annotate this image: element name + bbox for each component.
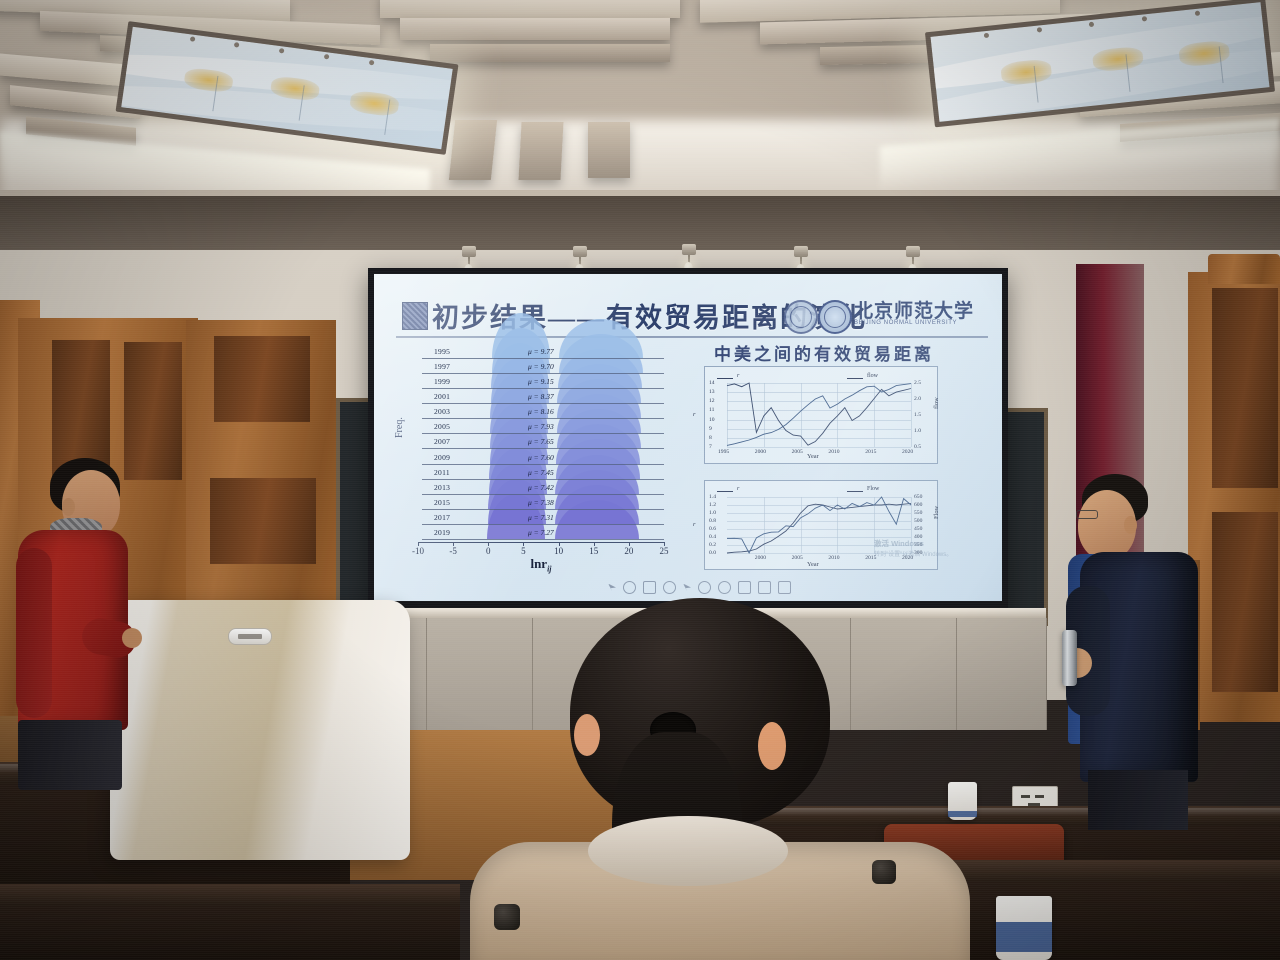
lower-ylabel: r	[693, 521, 696, 528]
ridgeline-xtick-label: -10	[412, 546, 424, 556]
slide-title-bar: 初步结果——有效贸易距离的演化 北京师范大学 BEIJING NORMAL UN…	[374, 292, 1002, 338]
lower-legend-swatch-r	[717, 491, 733, 492]
ridgeline-baseline	[422, 448, 664, 449]
ridgeline-baseline	[422, 418, 664, 419]
ridgeline-xtick-label: 5	[521, 546, 526, 556]
xtick-label: 1995	[718, 449, 729, 455]
ytick-label: 10	[709, 417, 715, 423]
ceiling-beam	[400, 18, 670, 40]
ridgeline-row: 2017μ = 7.31	[418, 512, 664, 525]
coat-button-right	[872, 860, 896, 884]
university-name-en: BEIJING NORMAL UNIVERSITY	[854, 320, 957, 326]
ytick-label: 12	[709, 398, 715, 404]
ridgeline-ylabel: Freq.	[394, 417, 405, 438]
ytick-label: 1.2	[709, 502, 716, 508]
ytick-label: 7	[709, 444, 712, 450]
university-name-cn: 北京师范大学	[854, 296, 974, 323]
pendant-fixture	[462, 246, 476, 257]
ridgeline-plot-area: 1995μ = 9.771997μ = 9.701999μ = 9.152001…	[418, 346, 664, 542]
ridgeline-row: 2011μ = 7.45	[418, 467, 664, 480]
y2tick-label: 600	[914, 502, 922, 508]
upper-legend-swatch-flow	[847, 378, 863, 379]
highlighter-icon[interactable]	[683, 584, 691, 592]
woman-scarf	[588, 816, 788, 886]
ridgeline-baseline	[422, 358, 664, 359]
ridgeline-row: 2019μ = 7.27	[418, 527, 664, 540]
ridgeline-baseline	[422, 479, 664, 480]
ridgeline-mu-annotation: μ = 7.60	[528, 453, 554, 462]
ridgeline-baseline	[422, 373, 664, 374]
ytick-label: 0.2	[709, 542, 716, 548]
upper-xlabel: Year	[807, 453, 819, 460]
y2tick-label: 1.0	[914, 428, 921, 434]
ytick-label: 0.6	[709, 526, 716, 532]
y2tick-label: 2.0	[914, 396, 921, 402]
ridgeline-mu-annotation: μ = 7.65	[528, 437, 554, 446]
lower-legend-label-flow: Flow	[867, 486, 879, 492]
ceiling-beam	[430, 44, 670, 62]
xtick-label: 2005	[792, 449, 803, 455]
projection-screen[interactable]: 初步结果——有效贸易距离的演化 北京师范大学 BEIJING NORMAL UN…	[374, 274, 1002, 601]
ridgeline-row: 2005μ = 7.93	[418, 421, 664, 434]
ytick-label: 8	[709, 435, 712, 441]
ytick-label: 1.0	[709, 510, 716, 516]
ridgeline-year-label: 2015	[434, 498, 450, 507]
ridgeline-row: 2013μ = 7.42	[418, 482, 664, 495]
xtick-label: 2020	[902, 449, 913, 455]
ridgeline-year-label: 2009	[434, 453, 450, 462]
ridgeline-row: 1995μ = 9.77	[418, 346, 664, 359]
ridgeline-row: 1997μ = 9.70	[418, 361, 664, 374]
ridgeline-chart: Freq. 1995μ = 9.771997μ = 9.701999μ = 9.…	[396, 346, 664, 576]
ytick-label: 1.4	[709, 494, 716, 500]
upper-legend-label-r: r	[737, 373, 739, 379]
ridgeline-year-label: 1999	[434, 377, 450, 386]
ytick-label: 0.8	[709, 518, 716, 524]
ridgeline-baseline	[422, 433, 664, 434]
title-underline	[396, 336, 988, 338]
y2tick-label: 0.5	[914, 444, 921, 450]
ridgeline-year-label: 2005	[434, 422, 450, 431]
wall-wood-inset	[1212, 288, 1278, 488]
ridgeline-year-label: 2013	[434, 483, 450, 492]
pendant-fixture	[682, 244, 696, 255]
ytick-label: 13	[709, 389, 715, 395]
ridgeline-xtick-label: -5	[449, 546, 457, 556]
ridgeline-row: 2015μ = 7.38	[418, 497, 664, 510]
presenter-hand	[122, 628, 142, 648]
ridgeline-mu-annotation: μ = 8.37	[528, 392, 554, 401]
xtick-label: 2000	[755, 555, 766, 561]
xtick-label: 2010	[828, 555, 839, 561]
lecture-hall-photo: 初步结果——有效贸易距离的演化 北京师范大学 BEIJING NORMAL UN…	[0, 0, 1280, 960]
ridgeline-mu-annotation: μ = 7.45	[528, 468, 554, 477]
ridgeline-year-label: 1995	[434, 347, 450, 356]
upper-ylabel: r	[693, 411, 696, 418]
windows-watermark-title: 激活 Windows	[874, 538, 924, 549]
lower-legend-label-r: r	[737, 486, 739, 492]
ridgeline-mu-annotation: μ = 7.31	[528, 513, 554, 522]
ceiling-beam	[518, 122, 563, 180]
right-section-heading: 中美之间的有效贸易距离	[674, 340, 974, 365]
windows-watermark-subtitle: 转到"设置"以激活 Windows。	[874, 549, 952, 558]
ridgeline-baseline	[422, 403, 664, 404]
standing-attendee	[1040, 458, 1220, 828]
ridgeline-year-label: 2003	[434, 407, 450, 416]
coat-button-left	[494, 904, 520, 930]
ridgeline-baseline	[422, 464, 664, 465]
ridgeline-row: 2003μ = 8.16	[418, 406, 664, 419]
upper-legend-label-flow: flow	[867, 373, 878, 379]
ridgeline-row: 2009μ = 7.60	[418, 452, 664, 465]
xtick-label: 2015	[865, 449, 876, 455]
china-us-upper-chart: r flow 199520002005201020152020789101112…	[704, 366, 938, 464]
ridgeline-baseline	[422, 539, 664, 540]
ytick-label: 9	[709, 426, 712, 432]
series-line-r	[727, 383, 911, 445]
ridgeline-xtick-label: 0	[486, 546, 491, 556]
attendee-trousers	[1088, 770, 1188, 830]
wall-wood-inset	[1212, 512, 1278, 692]
woman-ear-right	[758, 722, 786, 770]
wall-wood-panel-right	[1208, 254, 1280, 284]
ytick-label: 0.0	[709, 550, 716, 556]
y2tick-label: 1.5	[914, 412, 921, 418]
pointer-icon[interactable]	[608, 584, 616, 592]
presenter-arm	[16, 548, 52, 718]
lower-legend-swatch-flow	[847, 491, 863, 492]
ridgeline-mu-annotation: μ = 7.38	[528, 498, 554, 507]
xtick-label: 2010	[828, 449, 839, 455]
thermos-bottle[interactable]	[1062, 630, 1077, 686]
upper-y2label: flow	[933, 397, 940, 409]
ridgeline-xlabel: lnrij	[418, 556, 664, 574]
ceiling-beam	[380, 0, 680, 18]
wall-wood-inset	[214, 336, 310, 422]
ridgeline-row: 2001μ = 8.37	[418, 391, 664, 404]
series-line-flow	[727, 384, 911, 446]
presenter-ear	[62, 498, 75, 516]
ridgeline-mu-annotation: μ = 9.77	[528, 347, 554, 356]
attendee-ear	[1124, 516, 1137, 534]
upper-legend-swatch-r	[717, 378, 733, 379]
podium-logo-badge	[228, 628, 272, 645]
ridgeline-baseline	[422, 494, 664, 495]
ridgeline-mu-annotation: μ = 8.16	[528, 407, 554, 416]
ridgeline-year-label: 2011	[434, 468, 450, 477]
ceiling-beam	[588, 122, 630, 178]
ridgeline-mu-annotation: μ = 7.93	[528, 422, 554, 431]
woman-ear-left	[574, 714, 600, 756]
ytick-label: 0.4	[709, 534, 716, 540]
xtick-label: 2000	[755, 449, 766, 455]
ridgeline-xtick-label: 10	[554, 546, 563, 556]
paper-cup-front[interactable]	[996, 896, 1052, 960]
ridgeline-year-label: 2007	[434, 437, 450, 446]
y2tick-label: 650	[914, 494, 922, 500]
y2tick-label: 450	[914, 526, 922, 532]
ytick-label: 14	[709, 380, 715, 386]
ridgeline-baseline	[422, 509, 664, 510]
ridgeline-mu-annotation: μ = 9.15	[528, 377, 554, 386]
ridgeline-row: 1999μ = 9.15	[418, 376, 664, 389]
desk-row-left-rear-body	[0, 906, 460, 960]
ridgeline-year-label: 1997	[434, 362, 450, 371]
pendant-fixture	[794, 246, 808, 257]
ridgeline-year-label: 2019	[434, 528, 450, 537]
pendant-fixture	[573, 246, 587, 257]
ridgeline-xaxis	[418, 542, 664, 543]
presenter-trousers	[18, 720, 122, 790]
xtick-label: 2005	[792, 555, 803, 561]
ridgeline-mu-annotation: μ = 9.70	[528, 362, 554, 371]
ridgeline-xtick-label: 20	[624, 546, 633, 556]
seated-audience-member	[470, 592, 980, 960]
ridgeline-baseline	[422, 388, 664, 389]
lower-y2label: Flow	[933, 506, 940, 519]
presenter-at-podium	[0, 440, 210, 780]
university-seal-icon	[784, 300, 818, 334]
lower-xlabel: Year	[807, 561, 819, 568]
ridgeline-mu-annotation: μ = 7.27	[528, 528, 554, 537]
ridgeline-year-label: 2001	[434, 392, 450, 401]
ridgeline-xtick-label: 25	[660, 546, 669, 556]
ridgeline-xtick-label: 15	[589, 546, 598, 556]
ytick-label: 11	[709, 407, 714, 413]
ridgeline-row: 2007μ = 7.65	[418, 436, 664, 449]
glasses-icon	[1076, 510, 1098, 519]
ceiling-beam	[449, 120, 497, 180]
ridgeline-baseline	[422, 524, 664, 525]
y2tick-label: 550	[914, 510, 922, 516]
pendant-fixture	[906, 246, 920, 257]
wall-wood-inset	[210, 478, 316, 564]
ridgeline-year-label: 2017	[434, 513, 450, 522]
ridgeline-mu-annotation: μ = 7.42	[528, 483, 554, 492]
y2tick-label: 500	[914, 518, 922, 524]
university-seal-icon	[818, 300, 852, 334]
title-decor-square	[402, 302, 428, 330]
y2tick-label: 2.5	[914, 380, 921, 386]
